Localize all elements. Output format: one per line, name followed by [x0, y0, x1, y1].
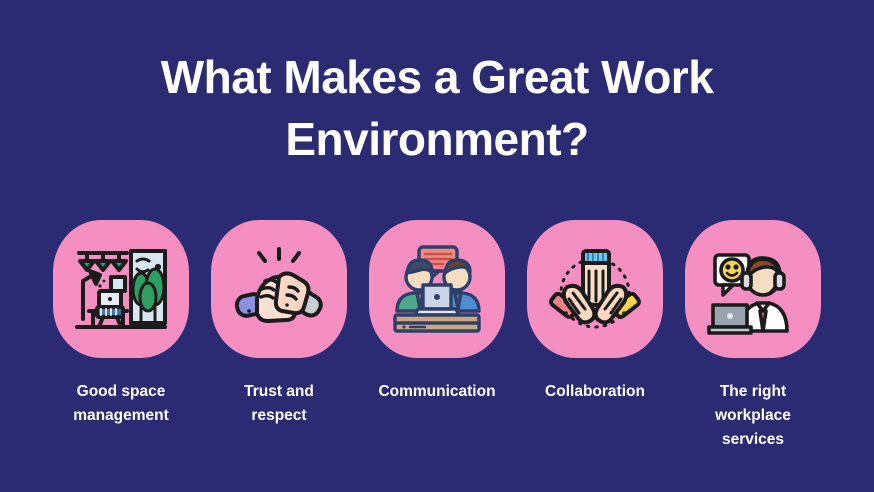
card-good-space-management[interactable]: Good space management — [53, 220, 189, 428]
support-agent-icon — [701, 237, 805, 341]
icon-tile-5 — [685, 220, 821, 358]
page-title-line-2: Environment? — [0, 108, 874, 170]
slide-root: What Makes a Great Work Environment? — [0, 0, 874, 492]
card-label-1: Good space management — [51, 380, 191, 428]
page-title: What Makes a Great Work Environment? — [0, 46, 874, 170]
handshake-icon — [227, 237, 331, 341]
card-label-4: Collaboration — [525, 380, 665, 404]
card-collaboration[interactable]: Collaboration — [527, 220, 663, 404]
icon-tile-1 — [53, 220, 189, 358]
card-label-1-line-2: management — [73, 407, 169, 424]
card-label-3-line-1: Communication — [378, 383, 495, 400]
card-label-1-line-1: Good space — [77, 383, 166, 400]
card-label-3: Communication — [367, 380, 507, 404]
card-label-5-line-1: The right — [720, 383, 786, 400]
card-trust-and-respect[interactable]: Trust and respect — [211, 220, 347, 428]
card-label-5-line-3: services — [722, 431, 784, 448]
office-space-icon — [69, 237, 173, 341]
page-title-line-1: What Makes a Great Work — [0, 46, 874, 108]
stacked-hands-icon — [543, 237, 647, 341]
card-label-2-line-2: respect — [251, 407, 306, 424]
card-label-4-line-1: Collaboration — [545, 383, 645, 400]
card-label-5-line-2: workplace — [715, 407, 791, 424]
card-workplace-services[interactable]: The right workplace services — [685, 220, 821, 452]
card-label-2: Trust and respect — [209, 380, 349, 428]
icon-tile-2 — [211, 220, 347, 358]
icon-tile-3 — [369, 220, 505, 358]
card-label-5: The right workplace services — [683, 380, 823, 452]
card-label-2-line-1: Trust and — [244, 383, 314, 400]
icon-tile-4 — [527, 220, 663, 358]
card-list: Good space management — [0, 220, 874, 452]
card-communication[interactable]: Communication — [369, 220, 505, 404]
two-people-laptop-icon — [385, 237, 489, 341]
